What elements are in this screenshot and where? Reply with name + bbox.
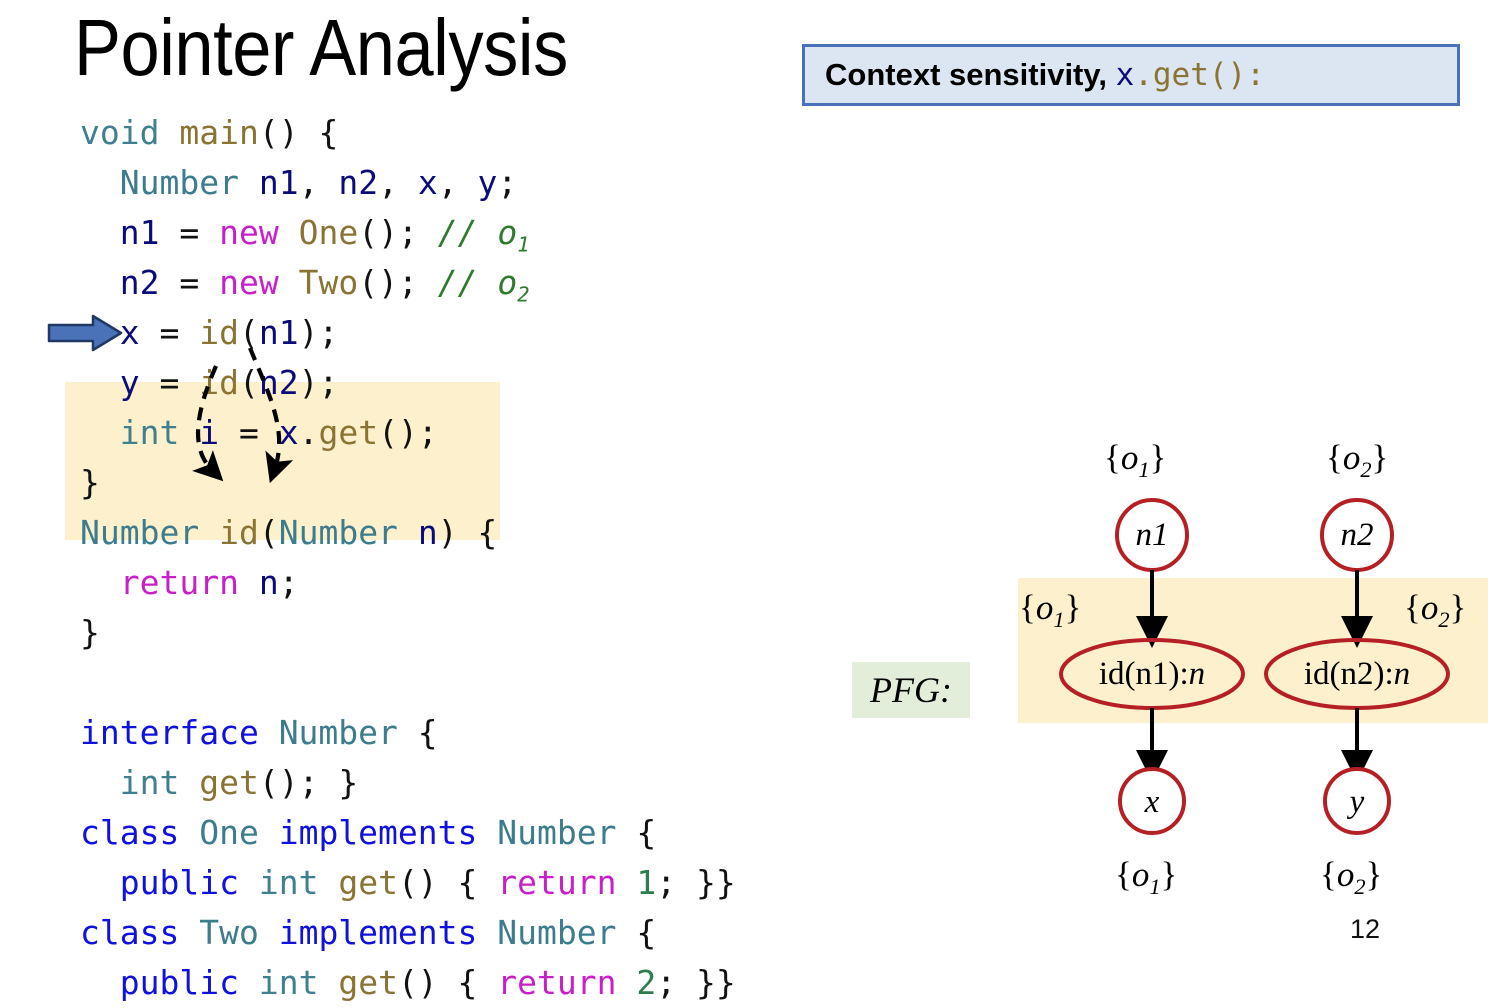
- points-to-n1: {o1}: [1104, 438, 1166, 483]
- points-to-x: {o1}: [1115, 855, 1177, 900]
- code-line: Number id(Number n) {: [0, 508, 800, 558]
- code-line: void main() {: [0, 108, 800, 158]
- code-line: y = id(n2);: [0, 358, 800, 408]
- current-line-arrow-icon: [47, 313, 123, 353]
- context-sensitivity-banner: Context sensitivity, x.get():: [802, 44, 1460, 106]
- code-panel: void main() { Number n1, n2, x, y; n1 = …: [0, 108, 800, 1008]
- code-line: public int get() { return 2; }}: [0, 958, 800, 1008]
- page-title: Pointer Analysis: [74, 2, 568, 94]
- pfg-node-label-id-n1: id(n1):n: [1078, 656, 1226, 693]
- pfg-label: PFG:: [852, 662, 970, 718]
- pfg-node-label-x: x: [1140, 784, 1164, 821]
- points-to-n2: {o2}: [1326, 438, 1388, 483]
- pfg-label-text: PFG:: [870, 669, 952, 711]
- code-line: }: [0, 458, 800, 508]
- code-line: }: [0, 608, 800, 658]
- context-banner-label: Context sensitivity,: [825, 57, 1116, 93]
- context-banner-call: .get():: [1134, 57, 1265, 93]
- code-line: class One implements Number {: [0, 808, 800, 858]
- code-line: Number n1, n2, x, y;: [0, 158, 800, 208]
- code-line: int i = x.get();: [0, 408, 800, 458]
- pfg-node-label-id-n2: id(n2):n: [1283, 656, 1431, 693]
- context-banner-variable: x: [1116, 57, 1135, 93]
- code-line: public int get() { return 1; }}: [0, 858, 800, 908]
- code-line: interface Number {: [0, 708, 800, 758]
- code-line: n2 = new Two(); // o2: [0, 258, 800, 308]
- points-to-id-n2: {o2}: [1404, 588, 1466, 633]
- pfg-node-label-n1: n1: [1128, 517, 1176, 554]
- code-line: n1 = new One(); // o1: [0, 208, 800, 258]
- code-line: return n;: [0, 558, 800, 608]
- code-line: int get(); }: [0, 758, 800, 808]
- points-to-y: {o2}: [1320, 855, 1382, 900]
- code-line-blank: [0, 658, 800, 708]
- pfg-node-label-n2: n2: [1333, 517, 1381, 554]
- code-line: class Two implements Number {: [0, 908, 800, 958]
- points-to-id-n1: {o1}: [1019, 588, 1081, 633]
- pfg-node-label-y: y: [1345, 784, 1369, 821]
